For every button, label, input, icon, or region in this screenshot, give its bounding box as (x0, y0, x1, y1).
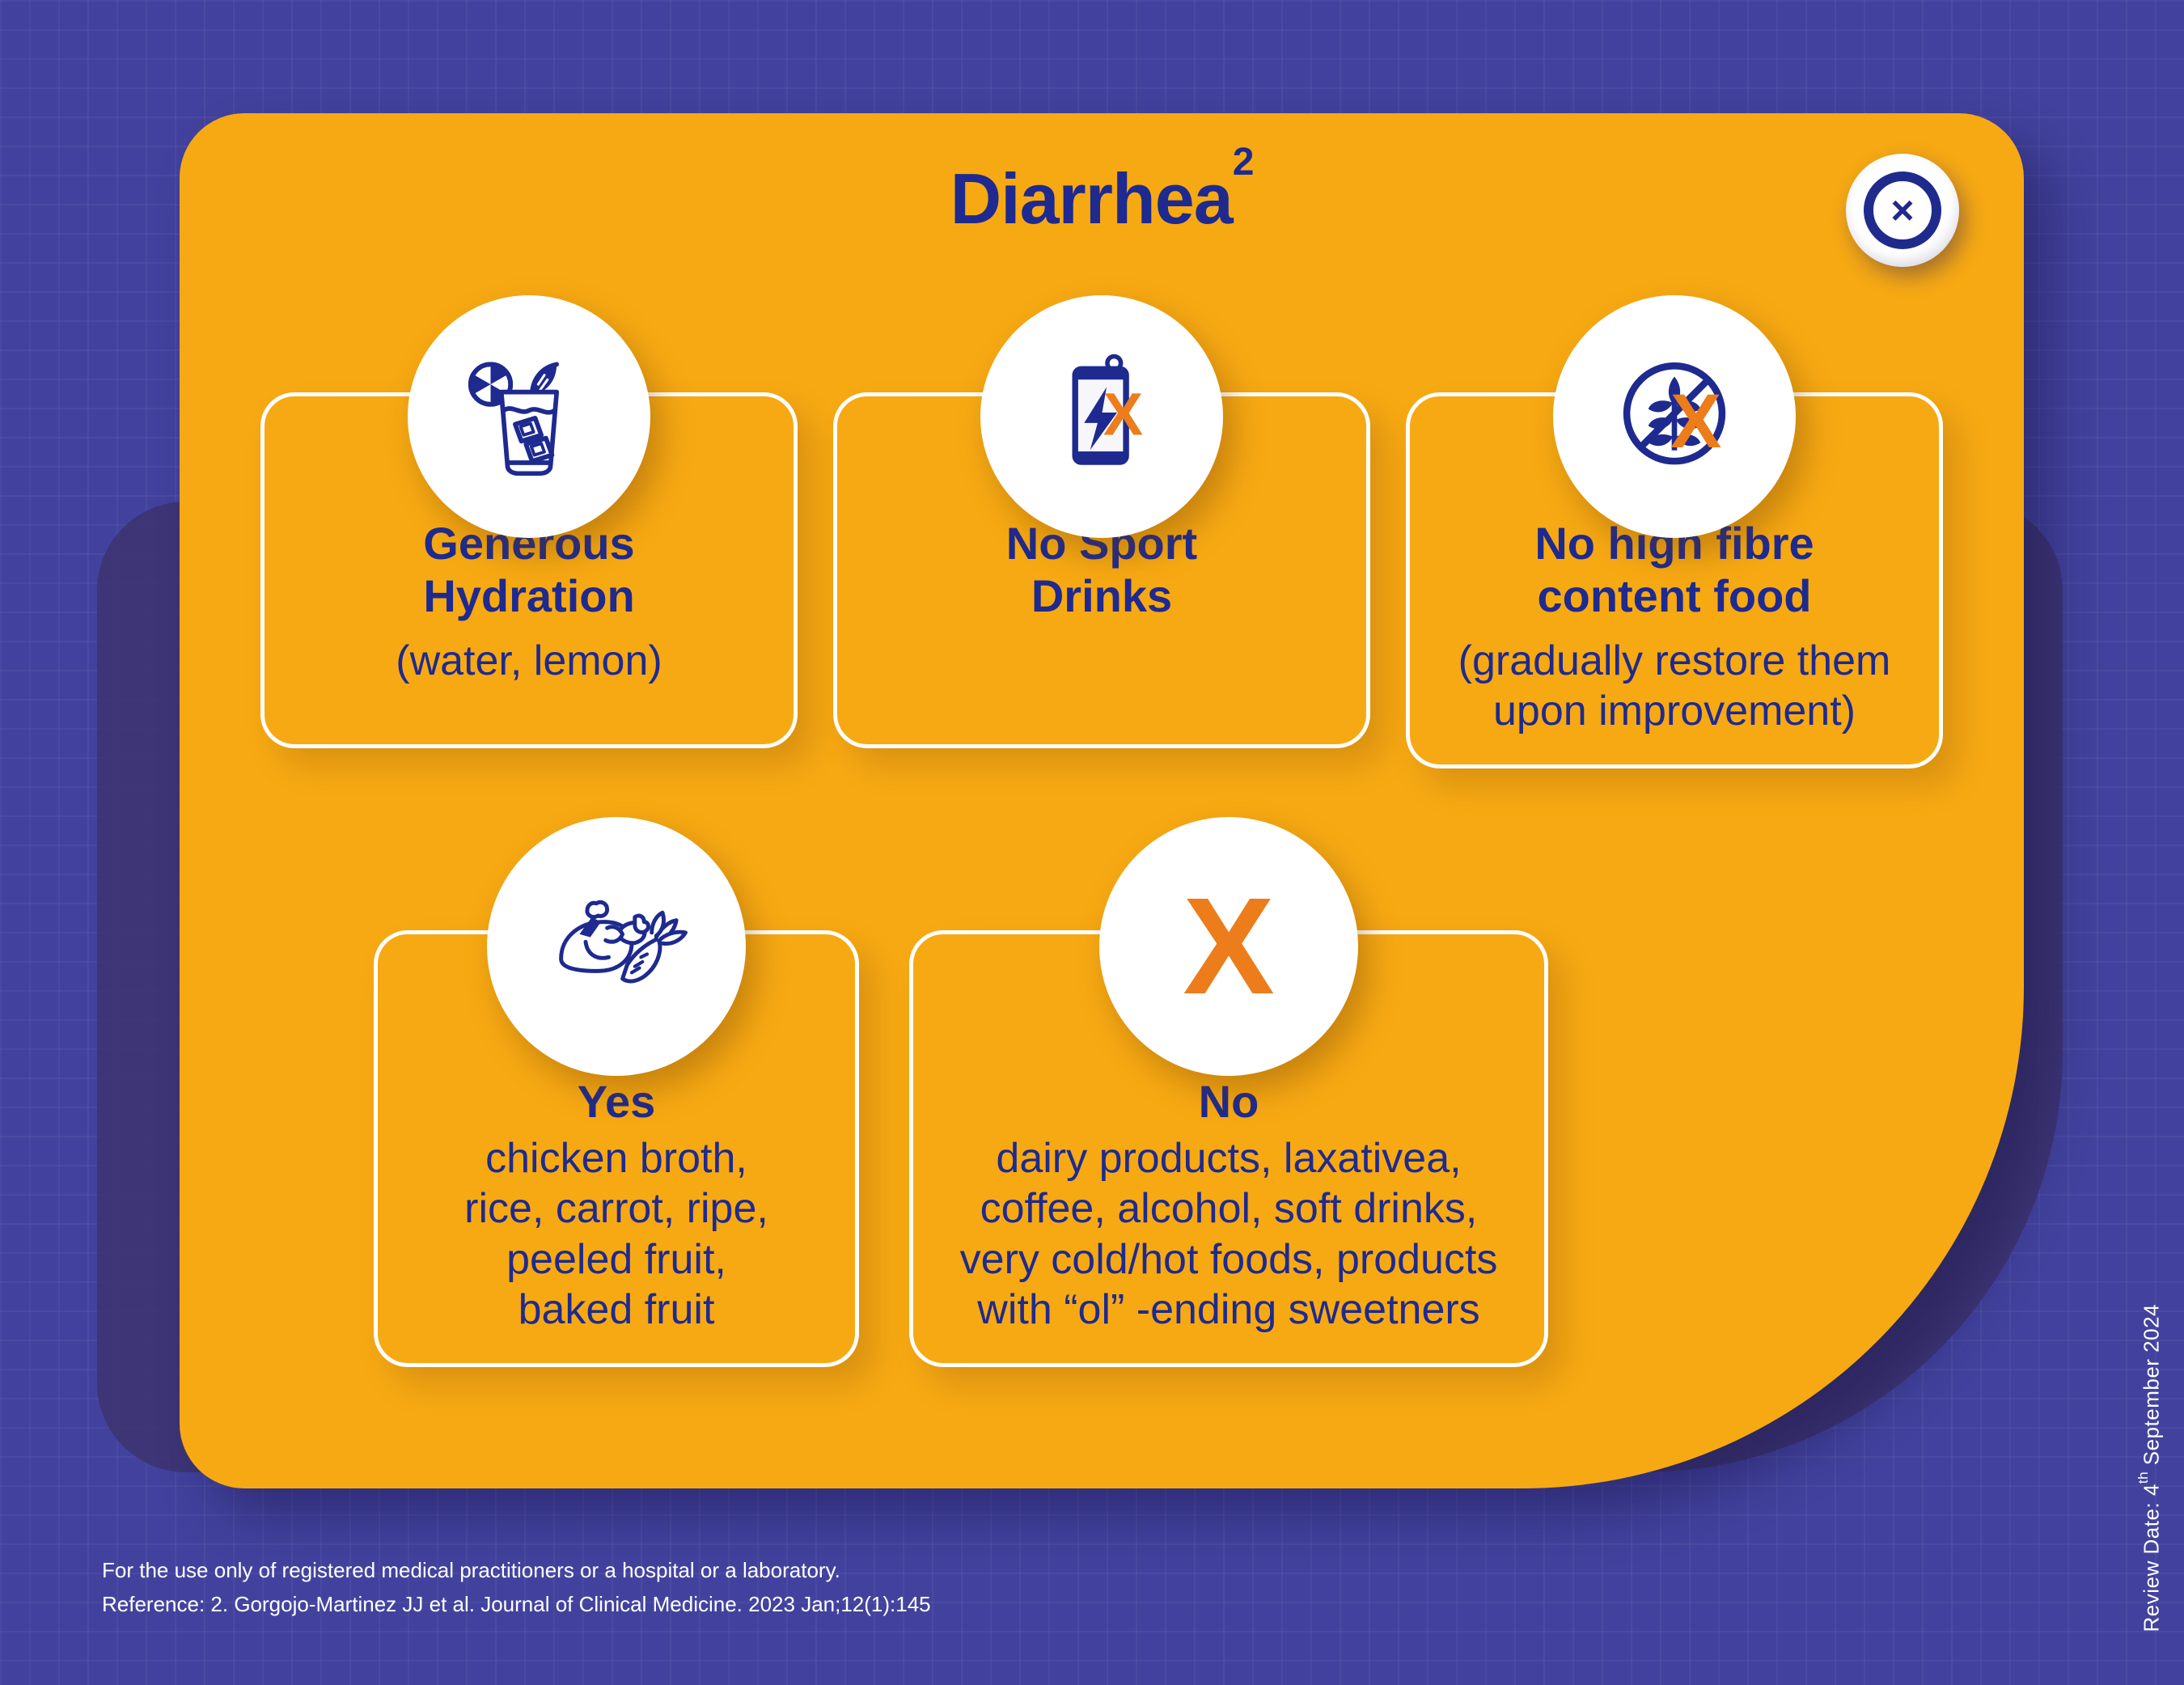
close-button[interactable]: × (1846, 154, 1959, 267)
card-no-high-fibre-food[interactable]: X No high fibre content food (gradually … (1406, 392, 1943, 768)
review-date-label: Review Date: 4th September 2024 (2135, 1304, 2165, 1632)
card-heading: Yes (392, 1076, 840, 1128)
card-subtext: chicken broth, rice, carrot, ripe, peele… (392, 1133, 840, 1336)
svg-text:X: X (1103, 380, 1142, 447)
bottom-recommendation-row: Yes chicken broth, rice, carrot, ripe, p… (374, 930, 1878, 1367)
review-date-ordinal: th (2135, 1471, 2151, 1484)
card-subtext: (gradually restore them upon improvement… (1424, 636, 1924, 737)
main-content-panel: Diarrhea2 × (180, 113, 2024, 1488)
footer-disclaimer: For the use only of registered medical p… (102, 1553, 931, 1621)
review-date-prefix: Review Date: 4 (2140, 1484, 2164, 1632)
footer-line-usage: For the use only of registered medical p… (102, 1553, 931, 1587)
card-no-foods[interactable]: X No dairy products, laxativea, coffee, … (909, 930, 1548, 1367)
energy-drink-can-crossed-out-icon: X (980, 295, 1223, 538)
glass-of-water-with-lemon-icon (408, 295, 650, 538)
review-date-suffix: September 2024 (2140, 1304, 2164, 1471)
orange-x-glyph: X (1183, 878, 1274, 1015)
card-yes-foods[interactable]: Yes chicken broth, rice, carrot, ripe, p… (374, 930, 859, 1367)
no-wheat-gluten-crossed-out-icon: X (1553, 295, 1796, 538)
close-circle-icon: × (1864, 171, 1941, 249)
footer-line-reference: Reference: 2. Gorgojo-Martinez JJ et al.… (102, 1587, 931, 1621)
svg-text:X: X (1670, 379, 1721, 464)
page-title-superscript: 2 (1233, 141, 1254, 184)
card-generous-hydration[interactable]: Generous Hydration (water, lemon) (260, 392, 798, 768)
page-title-text: Diarrhea (950, 159, 1233, 239)
page-title: Diarrhea2 (180, 158, 2024, 240)
roast-chicken-and-carrot-icon (487, 817, 746, 1076)
card-heading: No (928, 1076, 1530, 1128)
card-no-sport-drinks[interactable]: X No Sport Drinks (833, 392, 1370, 768)
card-subtext: (water, lemon) (279, 636, 779, 686)
card-subtext: dairy products, laxativea, coffee, alcoh… (928, 1133, 1530, 1336)
top-recommendation-row: Generous Hydration (water, lemon) X (260, 392, 1943, 768)
orange-x-icon: X (1099, 817, 1358, 1076)
close-icon-glyph: × (1890, 190, 1914, 231)
